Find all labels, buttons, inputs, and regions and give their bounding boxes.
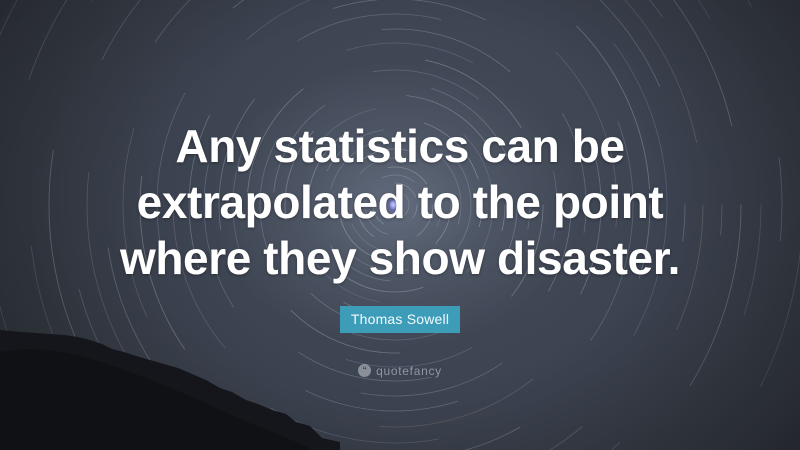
author-attribution: Thomas Sowell	[0, 306, 800, 333]
watermark[interactable]: “ quotefancy	[0, 364, 800, 377]
quote-line-1: Any statistics can be	[0, 118, 800, 174]
quote-line-3: where they show disaster.	[0, 230, 800, 286]
quote-text: Any statistics can be extrapolated to th…	[0, 118, 800, 286]
author-name-badge[interactable]: Thomas Sowell	[340, 306, 460, 333]
watermark-brand-label: quotefancy	[376, 365, 442, 377]
quote-poster: Any statistics can be extrapolated to th…	[0, 0, 800, 450]
quotefancy-logo-icon: “	[358, 364, 371, 377]
quote-line-2: extrapolated to the point	[0, 174, 800, 230]
